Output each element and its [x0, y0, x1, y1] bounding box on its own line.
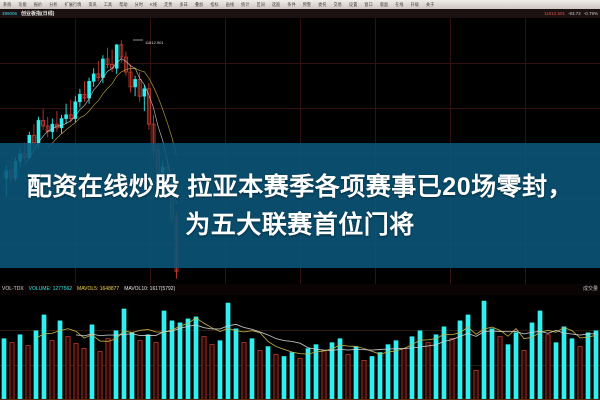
menu-item-25[interactable]: 在线	[395, 2, 403, 8]
application-menubar[interactable]: 系统功能报价分析扩展行情资讯工具帮助分时K线走势多日叠加指标画线统计区间选股条件…	[0, 0, 600, 9]
menu-item-18[interactable]: 条件	[287, 2, 295, 8]
menu-item-0[interactable]: 系统	[3, 2, 11, 8]
quote-change: -93.72	[568, 11, 581, 17]
menu-item-23[interactable]: 窗口	[364, 2, 372, 8]
menu-item-5[interactable]: 资讯	[88, 2, 96, 8]
indicator-mavol5-value: MAVOL5: 1648877	[77, 286, 119, 293]
menu-item-17[interactable]: 选股	[272, 2, 280, 8]
menu-item-1[interactable]: 功能	[18, 2, 26, 8]
volume-svg	[0, 295, 600, 400]
menu-item-7[interactable]: 帮助	[119, 2, 127, 8]
menu-item-9[interactable]: K线	[150, 2, 157, 8]
volume-indicator-header[interactable]: VOL-TDX VOLUME: 1277562 MAVOL5: 1648877 …	[0, 284, 600, 295]
menu-item-24[interactable]: 版面	[380, 2, 388, 8]
menu-item-16[interactable]: 区间	[257, 2, 265, 8]
headline-banner: 配资在线炒股 拉亚本赛季各项赛事已20场零封， 为五大联赛首位门将	[0, 143, 600, 268]
indicator-mavol10-value: MAVOL10: 1617(5792)	[124, 286, 175, 293]
menu-item-11[interactable]: 多日	[180, 2, 188, 8]
instrument-titlebar: 399006 创业板指(日线) 11812.501 -93.72 -0.79%	[0, 9, 600, 18]
instrument-name: 创业板指(日线)	[17, 11, 54, 17]
indicator-volume-value: VOLUME: 1277562	[29, 286, 72, 293]
headline-line-2: 为五大联赛首位门将	[185, 208, 415, 242]
quote-change-pct: -0.79%	[584, 11, 598, 17]
menu-item-4[interactable]: 扩展行情	[65, 2, 82, 8]
menu-item-10[interactable]: 走势	[164, 2, 172, 8]
menu-item-19[interactable]: 预警	[303, 2, 311, 8]
menu-item-8[interactable]: 分时	[135, 2, 143, 8]
quote-last-price: 11812.501	[544, 11, 565, 17]
instrument-code: 399006	[0, 11, 17, 17]
menu-item-20[interactable]: 委托	[318, 2, 326, 8]
menu-item-27[interactable]: 关于	[426, 2, 434, 8]
price-annotation-label: 11812.501	[145, 40, 164, 45]
menu-item-6[interactable]: 工具	[104, 2, 112, 8]
menu-item-12[interactable]: 叠加	[195, 2, 203, 8]
quote-summary: 11812.501 -93.72 -0.79%	[544, 11, 600, 17]
headline-line-1: 配资在线炒股 拉亚本赛季各项赛事已20场零封，	[27, 170, 573, 204]
indicator-right-label: 成交量	[583, 286, 600, 293]
indicator-name: VOL-TDX	[2, 286, 24, 293]
menu-item-13[interactable]: 指标	[210, 2, 218, 8]
menu-item-15[interactable]: 统计	[241, 2, 249, 8]
menu-item-2[interactable]: 报价	[34, 2, 42, 8]
screenshot-root: 系统功能报价分析扩展行情资讯工具帮助分时K线走势多日叠加指标画线统计区间选股条件…	[0, 0, 600, 400]
volume-chart[interactable]	[0, 295, 600, 400]
menu-item-14[interactable]: 画线	[226, 2, 234, 8]
menu-item-22[interactable]: 设置	[349, 2, 357, 8]
menu-item-3[interactable]: 分析	[49, 2, 57, 8]
menu-item-21[interactable]: 交易	[334, 2, 342, 8]
menu-item-26[interactable]: 升级	[411, 2, 419, 8]
